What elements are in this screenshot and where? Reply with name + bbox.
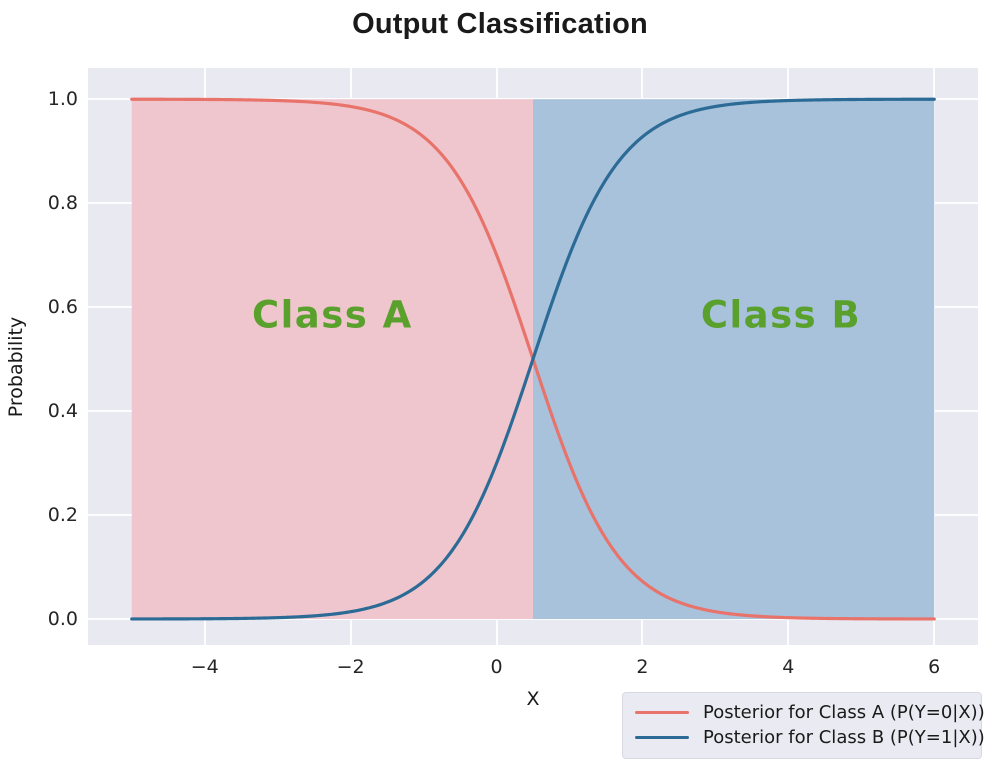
fill-region	[132, 99, 533, 619]
chart-figure: Output Classification Class AClass B 0.0…	[0, 0, 1000, 772]
y-tick-label: 0.0	[4, 608, 78, 630]
x-axis-ticks: −4−20246	[88, 656, 978, 682]
region-annotation-class-b: Class B	[701, 293, 861, 336]
legend-label-class-a: Posterior for Class A (P(Y=0|X))	[703, 702, 985, 723]
curve-svg	[88, 68, 978, 645]
legend-item[interactable]: Posterior for Class A (P(Y=0|X))	[635, 700, 969, 725]
legend-swatch-class-b	[635, 736, 689, 739]
y-tick-label: 1.0	[4, 88, 78, 110]
legend-swatch-class-a	[635, 711, 689, 714]
x-tick-label: 2	[636, 656, 648, 678]
x-tick-label: 6	[928, 656, 940, 678]
chart-title: Output Classification	[0, 8, 1000, 41]
x-tick-label: −2	[337, 656, 365, 678]
legend-label-class-b: Posterior for Class B (P(Y=1|X))	[703, 727, 985, 748]
plot-area: Class AClass B	[88, 68, 978, 645]
fill-region	[533, 99, 934, 619]
x-tick-label: 4	[782, 656, 794, 678]
x-tick-label: −4	[191, 656, 219, 678]
region-annotation-class-a: Class A	[252, 293, 413, 336]
y-tick-label: 0.2	[4, 504, 78, 526]
y-tick-label: 0.8	[4, 192, 78, 214]
chart-legend: Posterior for Class A (P(Y=0|X)) Posteri…	[622, 692, 982, 759]
x-tick-label: 0	[490, 656, 502, 678]
y-axis-label: Probability	[5, 267, 27, 467]
legend-item[interactable]: Posterior for Class B (P(Y=1|X))	[635, 725, 969, 750]
